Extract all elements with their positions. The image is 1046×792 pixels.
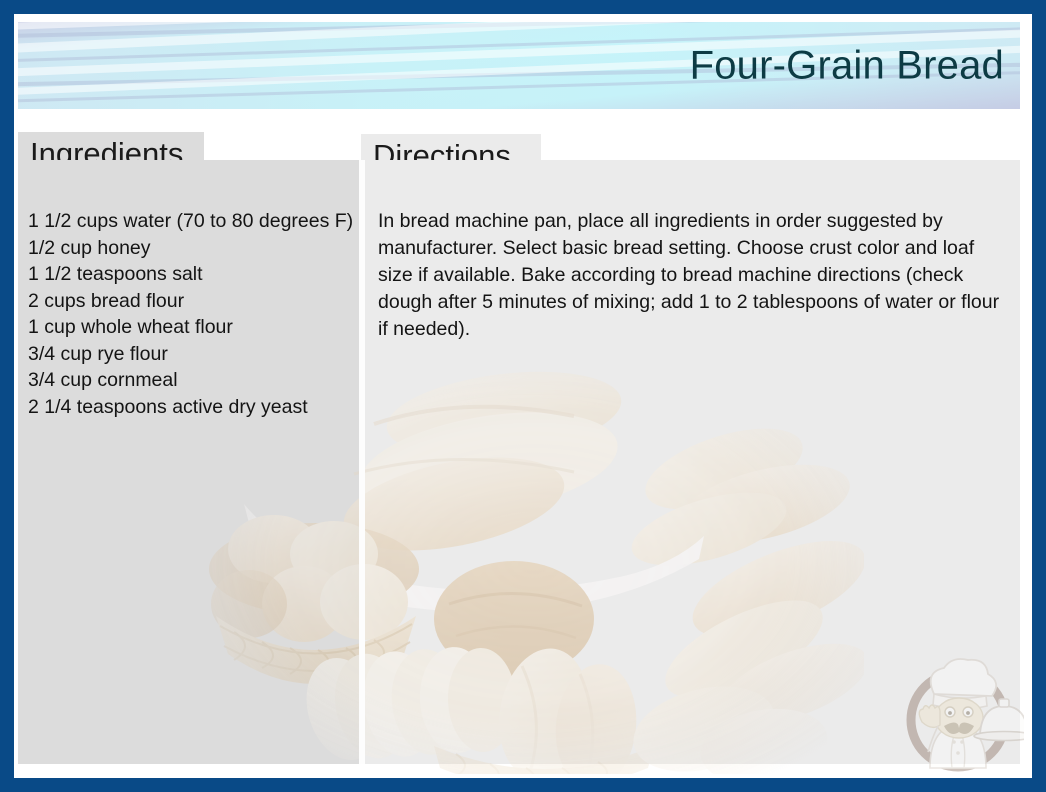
page-title: Four-Grain Bread <box>690 43 1004 88</box>
list-item: 1 1/2 cups water (70 to 80 degrees F) <box>28 208 358 235</box>
chef-mascot-logo <box>898 650 1024 776</box>
ingredients-list: 1 1/2 cups water (70 to 80 degrees F) 1/… <box>28 208 358 420</box>
header-banner: Four-Grain Bread <box>18 22 1020 109</box>
list-item: 3/4 cup rye flour <box>28 341 358 368</box>
list-item: 1 cup whole wheat flour <box>28 314 358 341</box>
list-item: 2 1/4 teaspoons active dry yeast <box>28 394 358 421</box>
list-item: 1/2 cup honey <box>28 235 358 262</box>
directions-body-text: In bread machine pan, place all ingredie… <box>378 208 1008 343</box>
list-item: 2 cups bread flour <box>28 288 358 315</box>
list-item: 3/4 cup cornmeal <box>28 367 358 394</box>
ingredients-panel: 1 1/2 cups water (70 to 80 degrees F) 1/… <box>18 160 359 764</box>
panel-divider <box>359 160 365 764</box>
slide-frame: Four-Grain Bread Ingredients Directions … <box>0 0 1046 792</box>
slide-page: Four-Grain Bread Ingredients Directions … <box>14 14 1032 778</box>
list-item: 1 1/2 teaspoons salt <box>28 261 358 288</box>
